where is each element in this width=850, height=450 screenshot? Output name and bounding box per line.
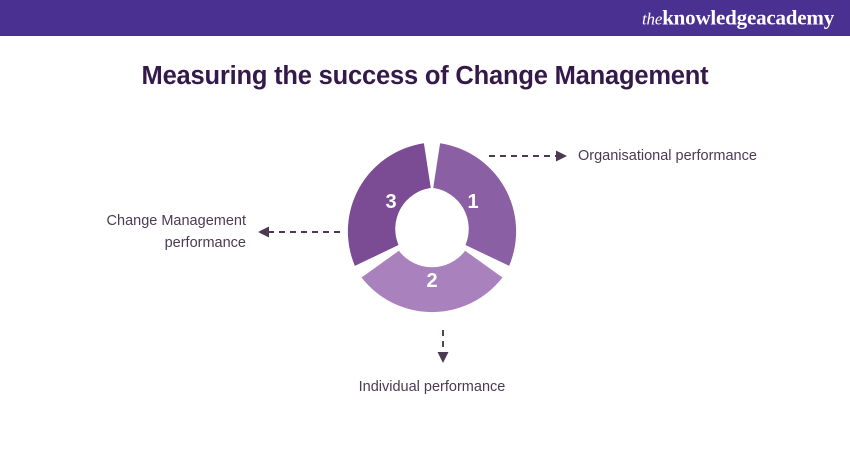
connector-bottom bbox=[438, 330, 449, 363]
callout-individual-performance: Individual performance bbox=[300, 377, 564, 399]
page-title: Measuring the success of Change Manageme… bbox=[0, 62, 850, 91]
donut-chart-svg: 1 2 3 bbox=[339, 139, 525, 325]
brand-name-text: knowledgeacademy bbox=[662, 6, 834, 30]
connector-right-arrowhead bbox=[556, 151, 567, 162]
callout-left-line-1: Change Management bbox=[40, 211, 246, 233]
connector-left-arrowhead bbox=[258, 227, 269, 238]
connector-left bbox=[258, 227, 340, 238]
donut-segment-3-number: 3 bbox=[385, 191, 396, 213]
callout-organisational-performance: Organisational performance bbox=[578, 146, 757, 168]
donut-segment-1-number: 1 bbox=[467, 191, 478, 213]
connector-bottom-arrowhead bbox=[438, 352, 449, 363]
callout-change-management-performance: Change Management performance bbox=[40, 211, 246, 255]
brand-logo: theknowledgeacademy bbox=[642, 8, 834, 29]
header-bar: theknowledgeacademy bbox=[0, 0, 850, 36]
donut-chart: 1 2 3 bbox=[339, 139, 525, 325]
brand-prefix-text: the bbox=[642, 10, 662, 29]
callout-left-line-2: performance bbox=[40, 233, 246, 255]
slide-canvas: theknowledgeacademy Measuring the succes… bbox=[0, 0, 850, 450]
donut-segment-2-number: 2 bbox=[426, 270, 437, 292]
